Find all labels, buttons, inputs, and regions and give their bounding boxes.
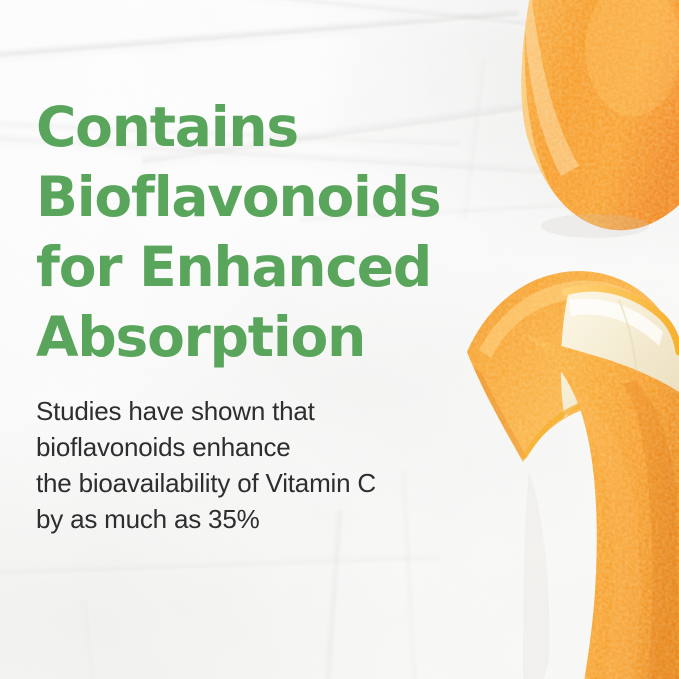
promo-panel: Contains Bioflavonoids for Enhanced Abso…: [0, 0, 679, 679]
page-title: Contains Bioflavonoids for Enhanced Abso…: [36, 92, 506, 372]
supporting-text: Studies have shown that bioflavonoids en…: [36, 393, 476, 537]
